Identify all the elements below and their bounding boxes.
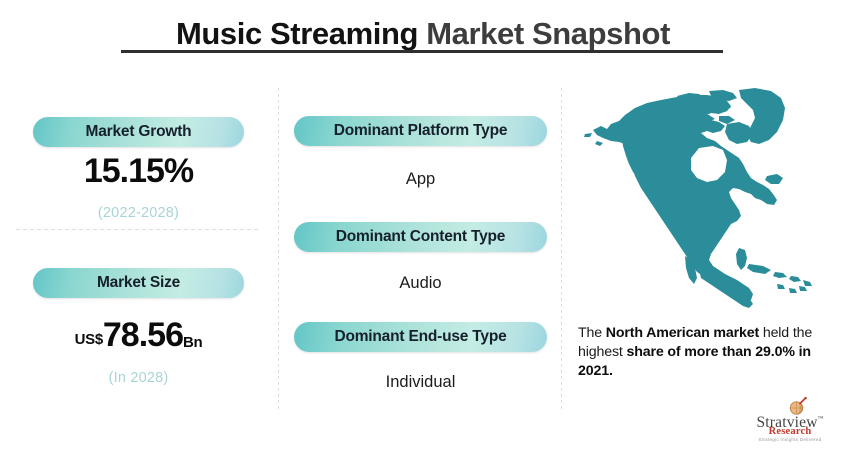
dominant-end-use-type-answer: Individual: [294, 373, 547, 392]
dominant-platform-type-pill: Dominant Platform Type: [294, 116, 547, 146]
dominant-content-type-pill: Dominant Content Type: [294, 222, 547, 252]
callout-bold-1: North American market: [606, 325, 759, 341]
trademark-symbol: ™: [818, 416, 824, 422]
header: Music Streaming Market Snapshot: [0, 14, 846, 54]
callout-text-1: The: [578, 325, 606, 341]
market-growth-pill: Market Growth: [33, 117, 244, 147]
title-underline-rule: [121, 50, 723, 53]
north-america-map: [581, 88, 831, 320]
market-size-number: 78.56: [103, 316, 183, 354]
page-title-part-primary: Music Streaming: [176, 16, 426, 51]
dominant-platform-type-answer: App: [294, 170, 547, 189]
market-size-unit: Bn: [183, 334, 202, 351]
market-size-value: US$78.56Bn: [16, 316, 261, 355]
market-growth-value: 15.15%: [16, 152, 261, 191]
dominant-end-use-type-pill: Dominant End-use Type: [294, 322, 547, 352]
dominant-content-type-answer: Audio: [294, 274, 547, 293]
stratview-research-logo[interactable]: Stratview™ Research Strategic Insights D…: [744, 397, 836, 443]
region-callout-text: The North American market held the highe…: [578, 324, 828, 381]
left-column-row-divider: [16, 229, 261, 230]
market-size-period: (In 2028): [16, 370, 261, 386]
page-title: Music Streaming Market Snapshot: [0, 14, 846, 54]
page-title-part-secondary: Market Snapshot: [426, 16, 670, 51]
market-growth-period: (2022-2028): [16, 205, 261, 221]
market-size-currency: US$: [75, 331, 103, 348]
column-divider-left: [278, 88, 279, 410]
column-divider-right: [561, 88, 562, 410]
market-size-pill: Market Size: [33, 268, 244, 298]
infographic-canvas: Music Streaming Market Snapshot Market G…: [0, 0, 846, 449]
logo-tagline: Strategic Insights Delivered: [744, 437, 836, 443]
